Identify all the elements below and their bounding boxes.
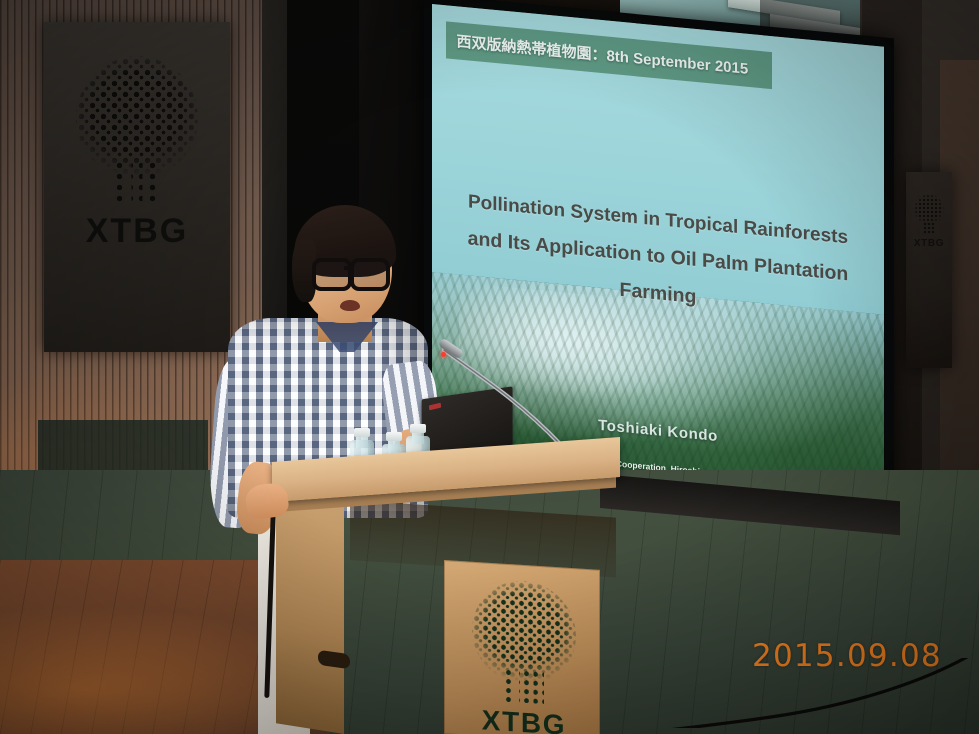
microphone-indicator-led bbox=[441, 352, 446, 357]
camera-datestamp: 2015.09.08 bbox=[752, 638, 942, 674]
slide-header-text: 西双版納熱帯植物園：8th September 2015 bbox=[456, 30, 748, 79]
tree-trunk-dots-right bbox=[923, 222, 936, 235]
xtbg-wall-banner: XTBG bbox=[44, 22, 230, 352]
xtbg-tree-logo-icon: XTBG bbox=[70, 56, 204, 216]
presentation-photo: XTBG XTBG 西双版納熱帯植物園：8th September 2015 P… bbox=[0, 0, 979, 734]
xtbg-podium-plaque: XTBG bbox=[444, 560, 600, 734]
xtbg-wordmark-right: XTBG bbox=[912, 238, 946, 249]
bottle-cap bbox=[386, 432, 402, 441]
wall-recess bbox=[287, 0, 359, 500]
wall-dark-square bbox=[38, 420, 208, 476]
xtbg-tree-logo-icon-right: XTBG bbox=[912, 194, 946, 250]
xtbg-wordmark-podium: XTBG bbox=[468, 704, 580, 734]
bottle-cap bbox=[410, 424, 426, 433]
tree-trunk-dots bbox=[114, 160, 160, 204]
xtbg-tree-logo-icon-podium: XTBG bbox=[468, 578, 580, 719]
bottle-cap bbox=[354, 428, 370, 437]
tree-trunk-dots-podium bbox=[504, 668, 544, 705]
xtbg-wall-banner-right: XTBG bbox=[906, 172, 952, 368]
xtbg-wordmark: XTBG bbox=[70, 212, 204, 251]
slide-header-banner: 西双版納熱帯植物園：8th September 2015 bbox=[446, 22, 771, 89]
podium-left-side bbox=[276, 483, 344, 734]
